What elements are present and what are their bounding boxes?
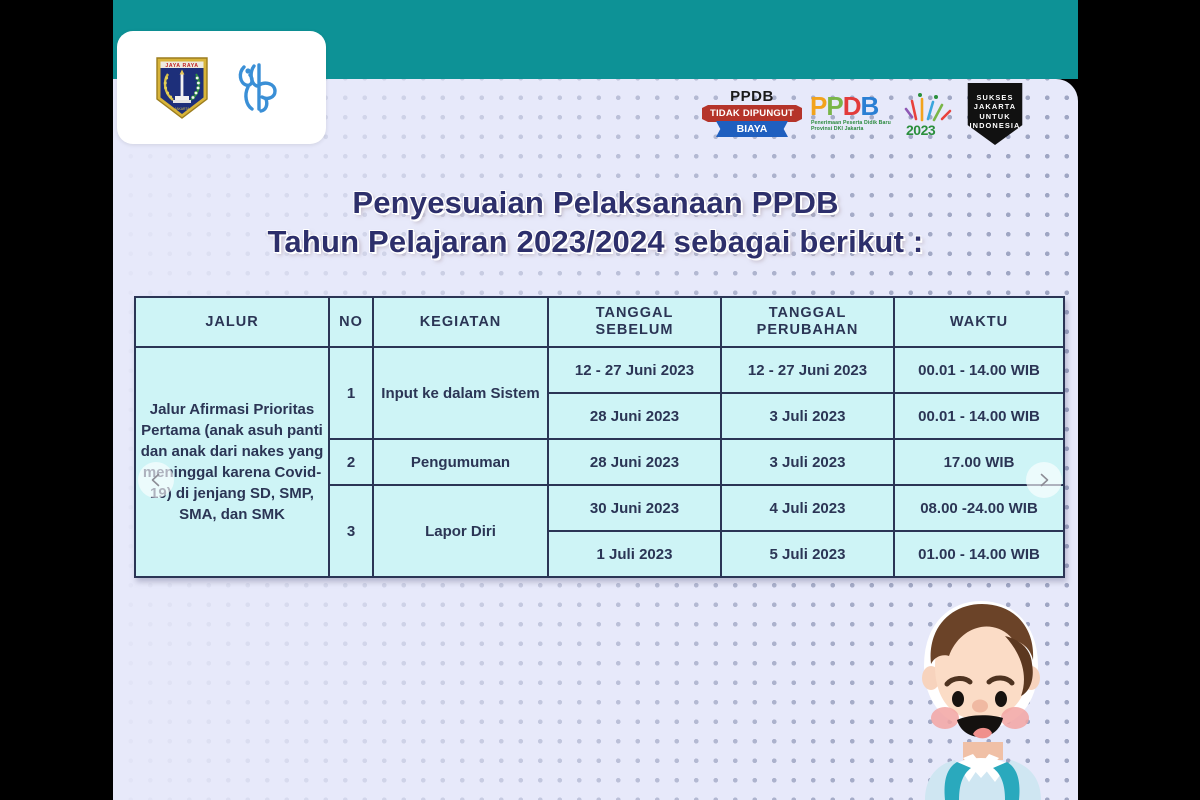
- page-title: Penyesuaian Pelaksanaan PPDB Tahun Pelaj…: [113, 183, 1078, 261]
- carousel-next-button[interactable]: [1026, 462, 1062, 498]
- column-header-tanggal-perubahan-l1: TANGGAL: [726, 305, 889, 322]
- cell-no: 1: [329, 347, 373, 439]
- cell-no: 2: [329, 439, 373, 485]
- dki-jakarta-emblem: JAYA RAYA JAKARTA: [154, 55, 210, 121]
- svg-text:JAKARTA: JAKARTA: [174, 107, 190, 111]
- cell-kegiatan: Input ke dalam Sistem: [373, 347, 548, 439]
- ppdb-2023-letters: PPDB: [810, 93, 878, 119]
- schedule-table-wrapper: JALUR NO KEGIATAN TANGGAL SEBELUM TANGGA…: [134, 296, 1063, 578]
- cell-tanggal-sebelum: 28 Juni 2023: [548, 393, 721, 439]
- cell-tanggal-perubahan: 4 Juli 2023: [721, 485, 894, 531]
- ppdb-gratis-banner: BIAYA: [716, 121, 788, 137]
- chevron-left-icon: [148, 472, 164, 488]
- ppdb-gratis-ribbon: TIDAK DIPUNGUT: [702, 105, 802, 122]
- table-header-row: JALUR NO KEGIATAN TANGGAL SEBELUM TANGGA…: [135, 297, 1064, 347]
- column-header-tanggal-sebelum: TANGGAL SEBELUM: [548, 297, 721, 347]
- ppdb-letter-1: P: [810, 91, 826, 121]
- ppdb-letter-3: D: [843, 91, 861, 121]
- column-header-kegiatan: KEGIATAN: [373, 297, 548, 347]
- page-title-line-2: Tahun Pelajaran 2023/2024 sebagai beriku…: [113, 222, 1078, 261]
- column-header-jalur: JALUR: [135, 297, 329, 347]
- column-header-tanggal-sebelum-l1: TANGGAL: [553, 305, 716, 322]
- column-header-tanggal-sebelum-l2: SEBELUM: [553, 322, 716, 339]
- svg-text:JAYA RAYA: JAYA RAYA: [165, 63, 198, 69]
- chevron-right-icon: [1036, 472, 1052, 488]
- ppdb-letter-4: B: [860, 91, 878, 121]
- cell-tanggal-perubahan: 3 Juli 2023: [721, 439, 894, 485]
- column-header-tanggal-perubahan: TANGGAL PERUBAHAN: [721, 297, 894, 347]
- fireworks-year-label: 2023: [906, 122, 935, 138]
- cell-waktu: 00.01 - 14.00 WIB: [894, 347, 1064, 393]
- badge-row: PPDB TIDAK DIPUNGUT BIAYA PPDB Penerimaa…: [700, 83, 1030, 145]
- sukses-line-2: JAKARTA: [964, 102, 1026, 111]
- schedule-table: JALUR NO KEGIATAN TANGGAL SEBELUM TANGGA…: [134, 296, 1065, 578]
- sukses-line-3: UNTUK: [964, 112, 1026, 121]
- cell-tanggal-perubahan: 3 Juli 2023: [721, 393, 894, 439]
- column-header-waktu: WAKTU: [894, 297, 1064, 347]
- cell-kegiatan: Pengumuman: [373, 439, 548, 485]
- student-boy-mascot: [885, 592, 1070, 800]
- sukses-line-1: SUKSES: [964, 93, 1026, 102]
- cell-tanggal-sebelum: 30 Juni 2023: [548, 485, 721, 531]
- ppdb-gratis-badge: PPDB TIDAK DIPUNGUT BIAYA: [700, 89, 804, 139]
- sukses-jakarta-badge: SUKSES JAKARTA UNTUK INDONESIA: [964, 83, 1026, 145]
- cell-waktu: 01.00 - 14.00 WIB: [894, 531, 1064, 577]
- ppdb-2023-logo: PPDB Penerimaan Peserta Didik Baru Provi…: [810, 91, 894, 137]
- ppdb-gratis-title: PPDB: [700, 89, 804, 105]
- cell-tanggal-sebelum: 1 Juli 2023: [548, 531, 721, 577]
- dinas-pendidikan-logo: [228, 57, 290, 119]
- ppdb-2023-subtitle: Penerimaan Peserta Didik Baru Provinsi D…: [811, 120, 893, 132]
- sukses-jakarta-text: SUKSES JAKARTA UNTUK INDONESIA: [964, 93, 1026, 131]
- cell-waktu: 00.01 - 14.00 WIB: [894, 393, 1064, 439]
- cell-kegiatan: Lapor Diri: [373, 485, 548, 577]
- column-header-tanggal-perubahan-l2: PERUBAHAN: [726, 322, 889, 339]
- cell-tanggal-sebelum: 28 Juni 2023: [548, 439, 721, 485]
- cell-no: 3: [329, 485, 373, 577]
- column-header-no: NO: [329, 297, 373, 347]
- sukses-line-4: INDONESIA: [964, 121, 1026, 130]
- fireworks-2023-badge: 2023: [900, 89, 958, 139]
- cell-jalur: Jalur Afirmasi Prioritas Pertama (anak a…: [135, 347, 329, 577]
- cell-tanggal-perubahan: 5 Juli 2023: [721, 531, 894, 577]
- cell-tanggal-perubahan: 12 - 27 Juni 2023: [721, 347, 894, 393]
- ppdb-letter-2: P: [826, 91, 842, 121]
- page-title-line-1: Penyesuaian Pelaksanaan PPDB: [352, 185, 838, 220]
- table-row: Jalur Afirmasi Prioritas Pertama (anak a…: [135, 347, 1064, 393]
- logo-card: JAYA RAYA JAKARTA: [117, 31, 326, 144]
- screenshot-root: JAYA RAYA JAKARTA: [0, 0, 1200, 800]
- carousel-prev-button[interactable]: [138, 462, 174, 498]
- cell-tanggal-sebelum: 12 - 27 Juni 2023: [548, 347, 721, 393]
